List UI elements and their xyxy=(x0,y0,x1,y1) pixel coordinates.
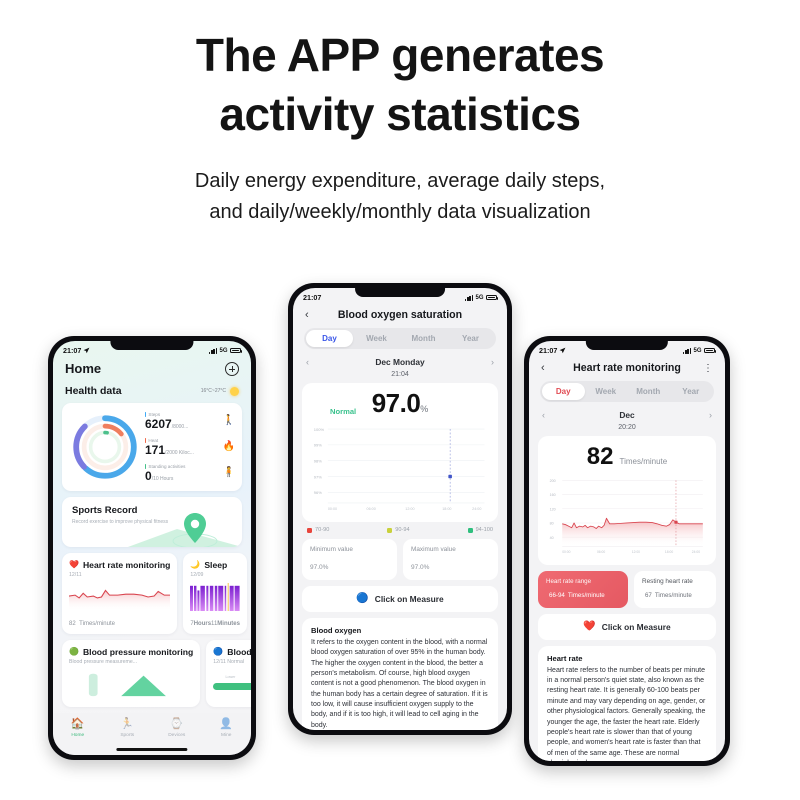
poster-page: The APP generates activity statistics Da… xyxy=(0,0,800,800)
home-header: Home xyxy=(53,357,251,376)
svg-text:18:00: 18:00 xyxy=(665,550,673,554)
network-label: 5G xyxy=(693,348,701,354)
prev-day-button[interactable]: ‹ xyxy=(542,410,545,420)
tab-week[interactable]: Week xyxy=(353,330,400,347)
health-data-label: Health data xyxy=(65,385,122,397)
subtitle-line-1: Daily energy expenditure, average daily … xyxy=(195,170,605,192)
svg-text:100%: 100% xyxy=(314,427,325,432)
prev-day-button[interactable]: ‹ xyxy=(306,357,309,367)
svg-text:98%: 98% xyxy=(314,458,322,463)
card-sleep-title: Sleep xyxy=(204,560,227,570)
standing-icon: 🧍 xyxy=(223,468,235,478)
bp-icon: 🟢 xyxy=(69,648,79,656)
signal-icon xyxy=(465,295,473,301)
card-sleep-date: 12/09 xyxy=(190,572,240,578)
card-blood-pressure-title: Blood pressure monitoring xyxy=(83,647,193,657)
subtitle-line-2: and daily/weekly/monthly data visualizat… xyxy=(209,201,590,223)
spo2-legend: 70-90 90-94 94-100 xyxy=(293,522,507,533)
tab-devices-label: Devices xyxy=(152,733,202,738)
measure-button-label: Click on Measure xyxy=(602,622,671,632)
signal-icon xyxy=(209,348,217,354)
walking-icon: 🚶 xyxy=(223,416,235,426)
tab-home-label: Home xyxy=(53,733,103,738)
tab-devices[interactable]: ⌚ Devices xyxy=(152,719,202,738)
home-indicator xyxy=(116,748,187,751)
sports-icon: 🏃 xyxy=(103,719,153,730)
watch-icon: ⌚ xyxy=(152,719,202,730)
spo2-header: ‹ Blood oxygen saturation xyxy=(293,304,507,328)
phone-heart-rate-screen: 21:07 5G ‹ Heart rate monitoring ⋮ Day W… xyxy=(524,336,730,766)
location-icon xyxy=(83,347,90,354)
notch xyxy=(355,288,445,297)
notch xyxy=(110,341,193,350)
heart-rate-range-unit: Times/minute xyxy=(568,592,605,599)
back-button[interactable]: ‹ xyxy=(541,362,551,374)
menu-button[interactable]: ⋮ xyxy=(703,363,713,374)
metric-steps-suffix: /8000... xyxy=(172,424,189,430)
headline-line-1: The APP generates xyxy=(196,29,604,81)
reading-timestamp: 20:20 xyxy=(529,424,725,431)
legend-label-mid: 90-94 xyxy=(395,527,409,533)
summary-cards-row-2: 🟢Blood pressure monitoring Blood pressur… xyxy=(62,640,242,707)
weather-temp: 16°C~27°C xyxy=(201,388,226,394)
tab-week[interactable]: Week xyxy=(585,383,628,400)
legend-item-low: 70-90 xyxy=(307,527,329,533)
heart-icon: ❤️ xyxy=(69,561,79,569)
location-icon xyxy=(559,347,566,354)
map-pin-illustration xyxy=(117,507,242,547)
maximum-value: 97.0 xyxy=(411,564,424,571)
signal-icon xyxy=(683,348,691,354)
metric-steps-value: 6207 xyxy=(145,417,172,431)
status-time: 21:07 xyxy=(303,293,321,302)
svg-text:00:00: 00:00 xyxy=(328,507,337,511)
tab-year[interactable]: Year xyxy=(670,383,713,400)
tab-month[interactable]: Month xyxy=(627,383,670,400)
metric-standing: Standing activities 0/10 Hours 🧍 xyxy=(145,464,235,482)
battery-icon xyxy=(230,348,241,354)
resting-heart-rate-value: 67 xyxy=(645,592,652,599)
svg-text:40: 40 xyxy=(550,536,554,540)
metric-steps: Steps 6207/8000... 🚶 xyxy=(145,412,235,430)
tab-sports[interactable]: 🏃 Sports xyxy=(103,719,153,738)
card-sleep-hours-unit: Hours xyxy=(194,621,211,627)
card-heart-rate-unit: Times/minute xyxy=(79,621,115,627)
hr-reading-card: 82Times/minute 200160120 8040 xyxy=(538,436,716,565)
svg-text:200: 200 xyxy=(550,479,556,483)
status-time: 21:07 xyxy=(539,346,557,355)
spo2-info-body: It refers to the oxygen content in the b… xyxy=(311,638,489,730)
page-title: The APP generates activity statistics xyxy=(0,26,800,144)
status-badge: Normal xyxy=(330,407,356,416)
moon-icon: 🌙 xyxy=(190,561,200,569)
sleep-bar-chart xyxy=(190,583,240,611)
subtitle: Daily energy expenditure, average daily … xyxy=(0,166,800,228)
hr-reading: 82Times/minute xyxy=(548,441,706,471)
legend-item-high: 94-100 xyxy=(468,527,493,533)
spo2-reading-card: Normal 97.0% 100%99%98% 97%96% xyxy=(302,383,498,522)
hr-chart[interactable]: 200160120 8040 00:0006: xyxy=(548,474,706,558)
spo2-reading: Normal 97.0% xyxy=(312,388,488,419)
hr-value: 82 xyxy=(587,443,614,470)
maximum-label: Maximum value xyxy=(411,546,490,555)
svg-text:80: 80 xyxy=(550,522,554,526)
current-date-label: Dec Monday xyxy=(375,357,424,367)
heart-rate-range-card: Heart rate range 66-94Times/minute xyxy=(538,571,628,608)
person-icon: 👤 xyxy=(202,719,252,730)
tab-day[interactable]: Day xyxy=(542,383,585,400)
metric-heat-value: 171 xyxy=(145,443,165,457)
hr-header: ‹ Heart rate monitoring ⋮ xyxy=(529,357,725,381)
phone-blood-oxygen-screen: 21:07 5G ‹ Blood oxygen saturation Day W… xyxy=(288,283,512,735)
hr-stats-row: Heart rate range 66-94Times/minute Resti… xyxy=(538,571,716,608)
headline-block: The APP generates activity statistics Da… xyxy=(0,0,800,228)
hr-info-body: Heart rate refers to the number of beats… xyxy=(547,666,707,761)
legend-label-high: 94-100 xyxy=(476,527,493,533)
hr-title: Heart rate monitoring xyxy=(573,362,681,374)
sun-icon xyxy=(230,387,239,396)
svg-text:00:00: 00:00 xyxy=(562,550,570,554)
spo2-info-card: Blood oxygen It refers to the oxygen con… xyxy=(302,618,498,730)
spo2-range-bar: Lower 90%-94% 94%-99% xyxy=(213,675,251,690)
tab-day[interactable]: Day xyxy=(306,330,353,347)
card-blood-pressure[interactable]: 🟢Blood pressure monitoring Blood pressur… xyxy=(62,640,200,707)
bp-illustration xyxy=(69,670,193,698)
home-icon: 🏠 xyxy=(53,719,103,730)
measure-button[interactable]: 🔵 Click on Measure xyxy=(302,586,498,612)
flame-icon: 🔥 xyxy=(223,442,235,452)
phone-home-display: 21:07 5G Home Health data 16°C~27°C xyxy=(53,341,251,755)
spo2-bar-label-0: Lower xyxy=(226,675,236,679)
heart-rate-range-label: Heart rate range xyxy=(546,578,620,585)
activity-rings xyxy=(69,411,141,483)
metric-standing-label: Standing activities xyxy=(148,464,185,469)
tab-month[interactable]: Month xyxy=(400,330,447,347)
svg-text:99%: 99% xyxy=(314,443,322,448)
period-segmented-control: Day Week Month Year xyxy=(304,328,496,349)
date-navigator: ‹ Dec › xyxy=(529,402,725,422)
resting-heart-rate-unit: Times/minute xyxy=(655,592,692,599)
resting-heart-rate-label: Resting heart rate xyxy=(642,578,708,585)
card-heart-rate[interactable]: ❤️Heart rate monitoring 12/11 82 Times/m… xyxy=(62,553,177,634)
summary-cards-row-1: ❤️Heart rate monitoring 12/11 82 Times/m… xyxy=(62,553,242,634)
tab-sports-label: Sports xyxy=(103,733,153,738)
measure-button[interactable]: ❤️ Click on Measure xyxy=(538,614,716,640)
network-label: 5G xyxy=(475,295,483,301)
network-label: 5G xyxy=(219,348,227,354)
legend-label-low: 70-90 xyxy=(315,527,329,533)
svg-text:18:00: 18:00 xyxy=(442,507,451,511)
health-summary-card[interactable]: Steps 6207/8000... 🚶 Heat 171/2000 Kiloc… xyxy=(62,403,242,491)
battery-icon xyxy=(704,348,715,354)
metric-heat-suffix: /2000 Kiloc... xyxy=(165,450,194,456)
metric-standing-value: 0 xyxy=(145,469,152,483)
spo2-unit: % xyxy=(420,404,428,414)
spo2-info-title: Blood oxygen xyxy=(311,626,489,635)
card-blood-pressure-subtitle: Blood pressure measureme... xyxy=(69,659,193,665)
hr-info-card: Heart rate Heart rate refers to the numb… xyxy=(538,646,716,761)
headline-line-2: activity statistics xyxy=(219,88,580,140)
next-day-button[interactable]: › xyxy=(491,357,494,367)
svg-text:120: 120 xyxy=(550,507,556,511)
svg-text:12:00: 12:00 xyxy=(632,550,640,554)
notch xyxy=(586,341,668,350)
hr-info-title: Heart rate xyxy=(547,654,707,663)
heart-measure-icon: ❤️ xyxy=(583,622,595,632)
measure-button-label: Click on Measure xyxy=(375,594,444,604)
metric-standing-suffix: /10 Hours xyxy=(152,476,174,482)
card-blood-oxygen-status: 12/11 Normal xyxy=(213,659,251,665)
svg-text:06:00: 06:00 xyxy=(367,507,376,511)
heart-rate-range-value: 66-94 xyxy=(549,592,565,599)
metric-heat: Heat 171/2000 Kiloc... 🔥 xyxy=(145,438,235,456)
svg-text:24:00: 24:00 xyxy=(692,550,700,554)
hr-unit: Times/minute xyxy=(619,457,667,466)
svg-text:96%: 96% xyxy=(314,490,322,495)
minimum-value-card: Minimum value 97.0% xyxy=(302,539,397,580)
card-sleep-minutes-unit: Minutes xyxy=(217,621,240,627)
minimum-value: 97.0 xyxy=(310,564,323,571)
svg-text:160: 160 xyxy=(550,493,556,497)
spo2-icon: 🔵 xyxy=(213,648,223,656)
spo2-chart[interactable]: 100%99%98% 97%96% 00:0006:0012:00 1 xyxy=(312,422,488,515)
weather-widget[interactable]: 16°C~27°C xyxy=(201,387,239,396)
sports-record-card[interactable]: Sports Record Record exercise to improve… xyxy=(62,497,242,547)
tab-mine[interactable]: 👤 Mine xyxy=(202,719,252,738)
minimum-label: Minimum value xyxy=(310,546,389,555)
phone-hr-display: 21:07 5G ‹ Heart rate monitoring ⋮ Day W… xyxy=(529,341,725,761)
add-button[interactable] xyxy=(225,362,239,376)
spo2-value: 97.0 xyxy=(372,388,421,418)
card-blood-oxygen[interactable]: 🔵Blood oxygen saturation 12/11 Normal Lo… xyxy=(206,640,251,707)
card-sleep[interactable]: 🌙Sleep 12/09 xyxy=(183,553,247,634)
svg-text:12:00: 12:00 xyxy=(405,507,414,511)
spo2-title: Blood oxygen saturation xyxy=(338,309,462,321)
heart-rate-sparkline xyxy=(69,583,170,611)
maximum-value-card: Maximum value 97.0% xyxy=(403,539,498,580)
card-heart-rate-value: 82 xyxy=(69,621,76,627)
battery-icon xyxy=(486,295,497,301)
date-navigator: ‹ Dec Monday › xyxy=(293,349,507,369)
svg-text:06:00: 06:00 xyxy=(597,550,605,554)
tab-mine-label: Mine xyxy=(202,733,252,738)
reading-timestamp: 21:04 xyxy=(293,371,507,378)
maximum-unit: % xyxy=(424,564,430,571)
status-time: 21:07 xyxy=(63,346,81,355)
current-date-label: Dec xyxy=(619,410,634,420)
phone-home-screen: 21:07 5G Home Health data 16°C~27°C xyxy=(48,336,256,760)
minmax-row: Minimum value 97.0% Maximum value 97.0% xyxy=(302,539,498,580)
card-blood-oxygen-title: Blood oxygen saturation xyxy=(227,647,251,657)
back-button[interactable]: ‹ xyxy=(305,309,315,321)
svg-text:24:00: 24:00 xyxy=(472,507,481,511)
phone-spo2-display: 21:07 5G ‹ Blood oxygen saturation Day W… xyxy=(293,288,507,730)
home-title: Home xyxy=(65,361,101,376)
resting-heart-rate-card: Resting heart rate 67Times/minute xyxy=(634,571,716,608)
tab-home[interactable]: 🏠 Home xyxy=(53,719,103,738)
health-data-section-header: Health data 16°C~27°C xyxy=(53,376,251,403)
period-segmented-control: Day Week Month Year xyxy=(540,381,714,402)
tab-year[interactable]: Year xyxy=(447,330,494,347)
spo2-measure-icon: 🔵 xyxy=(356,594,368,604)
card-heart-rate-title: Heart rate monitoring xyxy=(83,560,170,570)
card-heart-rate-date: 12/11 xyxy=(69,572,170,578)
next-day-button[interactable]: › xyxy=(709,410,712,420)
svg-text:97%: 97% xyxy=(314,474,322,479)
metric-list: Steps 6207/8000... 🚶 Heat 171/2000 Kiloc… xyxy=(145,411,235,483)
minimum-unit: % xyxy=(323,564,329,571)
legend-item-mid: 90-94 xyxy=(387,527,409,533)
